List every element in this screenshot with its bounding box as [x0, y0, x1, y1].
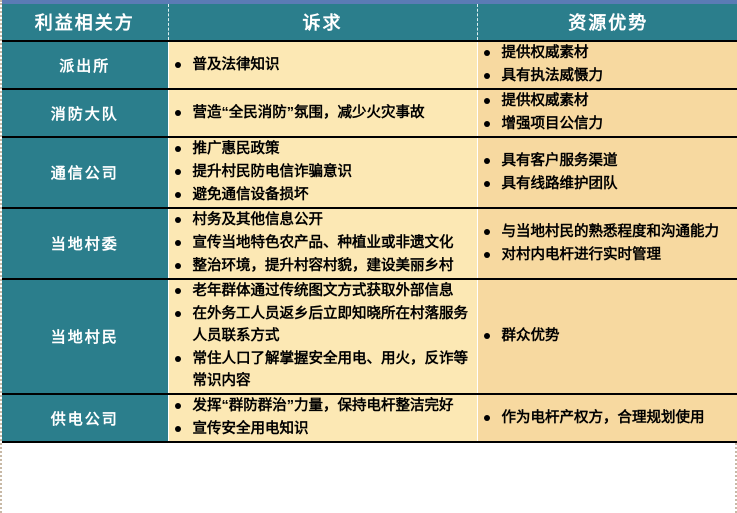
demand-list: 普及法律知识 [169, 54, 477, 76]
resource-cell: 作为电杆产权方，合理规划使用 [477, 394, 737, 442]
list-item: 营造“全民消防”氛围，减少火灾事故 [169, 102, 477, 124]
resource-cell: 提供权威素材 具有执法威慑力 [477, 41, 737, 89]
stakeholder-name-cell: 派出所 [2, 41, 168, 89]
stakeholder-name-cell: 通信公司 [2, 137, 168, 208]
list-item: 提供权威素材 [478, 42, 737, 64]
list-item: 具有客户服务渠道 [478, 150, 737, 172]
list-item: 具有线路维护团队 [478, 173, 737, 195]
table-row: 供电公司 发挥“群防群治”力量，保持电杆整洁完好 宣传安全用电知识 作为电杆产权… [2, 394, 737, 442]
column-header-resource: 资源优势 [477, 4, 737, 41]
list-item: 发挥“群防群治”力量，保持电杆整洁完好 [169, 395, 477, 417]
stakeholder-name-cell: 当地村民 [2, 279, 168, 394]
list-item: 增强项目公信力 [478, 113, 737, 135]
list-item: 具有执法威慑力 [478, 65, 737, 87]
list-item: 普及法律知识 [169, 54, 477, 76]
list-item: 提升村民防电信诈骗意识 [169, 161, 477, 183]
demand-list: 发挥“群防群治”力量，保持电杆整洁完好 宣传安全用电知识 [169, 395, 477, 440]
demand-list: 推广惠民政策 提升村民防电信诈骗意识 避免通信设备损坏 [169, 138, 477, 206]
table-row: 派出所 普及法律知识 提供权威素材 具有执法威慑力 [2, 41, 737, 89]
table-row: 消防大队 营造“全民消防”氛围，减少火灾事故 提供权威素材 增强项目公信力 [2, 89, 737, 137]
list-item: 老年群体通过传统图文方式获取外部信息 [169, 280, 477, 302]
demand-list: 老年群体通过传统图文方式获取外部信息 在外务工人员返乡后立即知晓所在村落服务人员… [169, 280, 477, 392]
resource-list: 提供权威素材 具有执法威慑力 [478, 42, 737, 87]
resource-list: 作为电杆产权方，合理规划使用 [478, 407, 737, 429]
resource-list: 与当地村民的熟悉程度和沟通能力 对村内电杆进行实时管理 [478, 221, 737, 266]
demand-cell: 老年群体通过传统图文方式获取外部信息 在外务工人员返乡后立即知晓所在村落服务人员… [168, 279, 477, 394]
list-item: 对村内电杆进行实时管理 [478, 244, 737, 266]
demand-cell: 营造“全民消防”氛围，减少火灾事故 [168, 89, 477, 137]
table-row: 通信公司 推广惠民政策 提升村民防电信诈骗意识 避免通信设备损坏 具有客户服务渠… [2, 137, 737, 208]
demand-cell: 推广惠民政策 提升村民防电信诈骗意识 避免通信设备损坏 [168, 137, 477, 208]
demand-list: 村务及其他信息公开 宣传当地特色农产品、种植业或非遗文化 整治环境，提升村容村貌… [169, 209, 477, 277]
demand-cell: 村务及其他信息公开 宣传当地特色农产品、种植业或非遗文化 整治环境，提升村容村貌… [168, 208, 477, 279]
stakeholder-analysis-table: 利益相关方 诉求 资源优势 派出所 普及法律知识 提供权威素材 具有执法威慑力 [2, 4, 737, 443]
list-item: 作为电杆产权方，合理规划使用 [478, 407, 737, 429]
demand-cell: 发挥“群防群治”力量，保持电杆整洁完好 宣传安全用电知识 [168, 394, 477, 442]
list-item: 常住人口了解掌握安全用电、用火，反诈等常识内容 [169, 348, 477, 392]
table-row: 当地村民 老年群体通过传统图文方式获取外部信息 在外务工人员返乡后立即知晓所在村… [2, 279, 737, 394]
stakeholder-name-cell: 当地村委 [2, 208, 168, 279]
list-item: 村务及其他信息公开 [169, 209, 477, 231]
list-item: 在外务工人员返乡后立即知晓所在村落服务人员联系方式 [169, 303, 477, 347]
resource-list: 提供权威素材 增强项目公信力 [478, 90, 737, 135]
table-row: 当地村委 村务及其他信息公开 宣传当地特色农产品、种植业或非遗文化 整治环境，提… [2, 208, 737, 279]
resource-cell: 具有客户服务渠道 具有线路维护团队 [477, 137, 737, 208]
list-item: 提供权威素材 [478, 90, 737, 112]
resource-cell: 提供权威素材 增强项目公信力 [477, 89, 737, 137]
stakeholder-name-cell: 消防大队 [2, 89, 168, 137]
table-frame: 利益相关方 诉求 资源优势 派出所 普及法律知识 提供权威素材 具有执法威慑力 [0, 0, 737, 513]
resource-cell: 群众优势 [477, 279, 737, 394]
resource-cell: 与当地村民的熟悉程度和沟通能力 对村内电杆进行实时管理 [477, 208, 737, 279]
table-body: 派出所 普及法律知识 提供权威素材 具有执法威慑力 消防大队 [2, 41, 737, 442]
list-item: 推广惠民政策 [169, 138, 477, 160]
list-item: 整治环境，提升村容村貌，建设美丽乡村 [169, 255, 477, 277]
resource-list: 具有客户服务渠道 具有线路维护团队 [478, 150, 737, 195]
stakeholder-name-cell: 供电公司 [2, 394, 168, 442]
list-item: 群众优势 [478, 325, 737, 347]
list-item: 宣传当地特色农产品、种植业或非遗文化 [169, 232, 477, 254]
list-item: 与当地村民的熟悉程度和沟通能力 [478, 221, 737, 243]
demand-list: 营造“全民消防”氛围，减少火灾事故 [169, 102, 477, 124]
column-header-demand: 诉求 [168, 4, 477, 41]
column-header-stakeholder: 利益相关方 [2, 4, 168, 41]
list-item: 避免通信设备损坏 [169, 184, 477, 206]
table-header-row: 利益相关方 诉求 资源优势 [2, 4, 737, 41]
list-item: 宣传安全用电知识 [169, 418, 477, 440]
resource-list: 群众优势 [478, 325, 737, 347]
demand-cell: 普及法律知识 [168, 41, 477, 89]
